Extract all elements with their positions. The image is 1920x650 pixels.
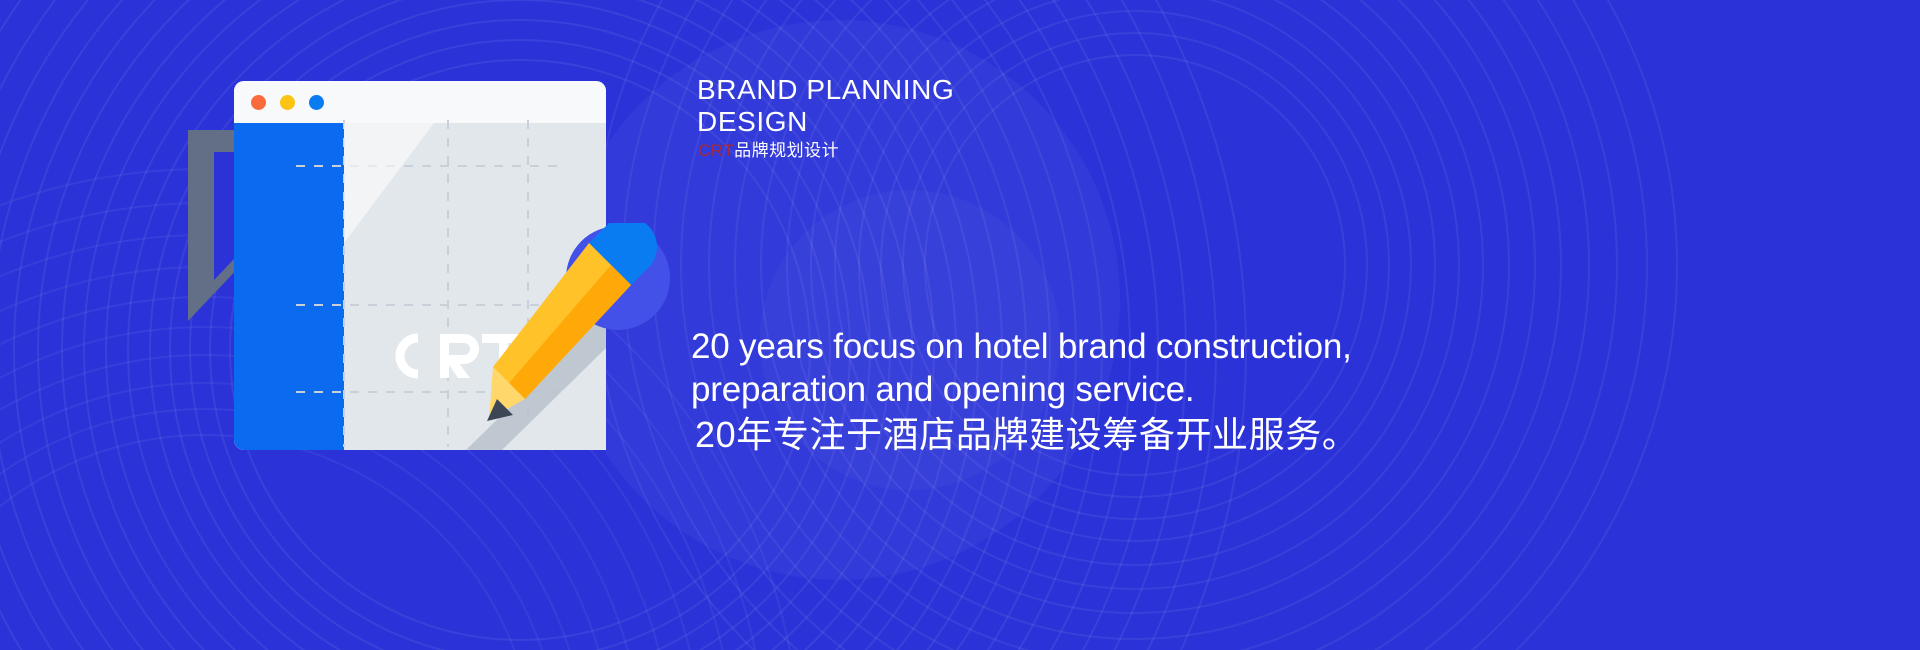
eyebrow-heading: BRAND PLANNINGDESIGN — [697, 74, 954, 138]
window-traffic-lights — [251, 95, 324, 110]
headline-cn: 20年专注于酒店品牌建设筹备开业服务。 — [695, 412, 1358, 457]
pencil-icon — [481, 223, 671, 433]
crt-brand-text: CRT — [698, 141, 734, 160]
copy-block: BRAND PLANNINGDESIGN CRT品牌规划设计 20 years … — [697, 0, 1597, 650]
window-sidebar — [234, 123, 344, 450]
eyebrow-subtitle-cn: CRT品牌规划设计 — [698, 140, 839, 162]
design-workspace-illustration — [186, 78, 686, 463]
headline-en: 20 years focus on hotel brand constructi… — [691, 326, 1391, 411]
brand-banner: BRAND PLANNINGDESIGN CRT品牌规划设计 20 years … — [0, 0, 1920, 650]
minimize-dot[interactable] — [280, 95, 295, 110]
eyebrow-line-2: DESIGN — [697, 106, 808, 137]
maximize-dot[interactable] — [309, 95, 324, 110]
eyebrow-line-1: BRAND PLANNING — [697, 74, 954, 105]
window-titlebar — [234, 81, 606, 123]
close-dot[interactable] — [251, 95, 266, 110]
eyebrow-subtitle-cn-text: 品牌规划设计 — [734, 141, 839, 160]
